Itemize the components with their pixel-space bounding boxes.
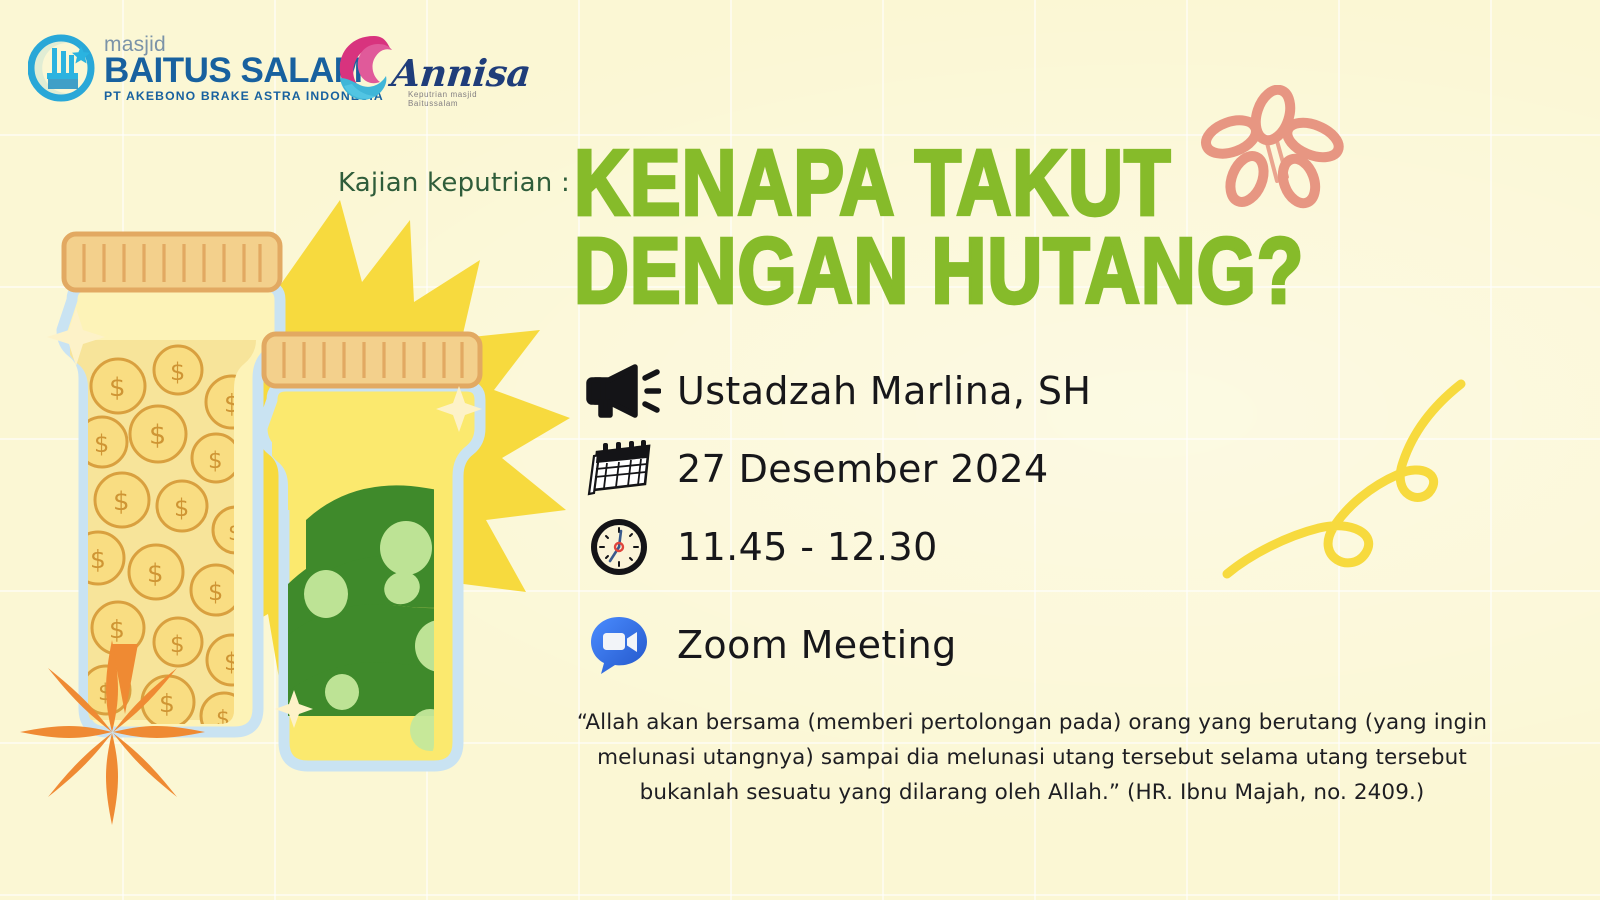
detail-row-speaker: Ustadzah Marlina, SH xyxy=(585,352,1145,430)
mosque-crescent-icon xyxy=(28,33,98,103)
zoom-video-icon xyxy=(585,614,661,676)
svg-text:$: $ xyxy=(94,430,109,458)
hadith-quote: “Allah akan bersama (memberi pertolongan… xyxy=(562,706,1502,810)
svg-text:$: $ xyxy=(170,632,185,658)
title-line-1: KENAPA TAKUT xyxy=(574,140,1304,228)
svg-text:$: $ xyxy=(149,420,166,451)
svg-text:$: $ xyxy=(113,487,130,517)
detail-speaker-label: Ustadzah Marlina, SH xyxy=(677,369,1091,413)
poster-canvas: $ $ $ $ $ $ $ $ $ $ $ $ $ $ $ xyxy=(0,0,1600,900)
logo-annisa: Annisa Keputrian masjid Baitussalam xyxy=(332,30,517,108)
detail-row-time: 11.45 - 12.30 xyxy=(585,508,1145,586)
svg-text:$: $ xyxy=(208,448,223,474)
hijab-woman-icon xyxy=(340,36,392,100)
svg-text:$: $ xyxy=(159,689,175,718)
svg-text:$: $ xyxy=(170,358,185,386)
detail-date-label: 27 Desember 2024 xyxy=(677,447,1049,491)
clock-icon xyxy=(585,516,661,578)
title-line-2: DENGAN HUTANG? xyxy=(574,228,1304,316)
logo-bar: masjid BAITUS SALAM PT AKEBONO BRAKE AST… xyxy=(0,0,1600,130)
jar-of-gold-coins: $ $ $ $ $ $ $ $ $ $ $ $ $ $ $ xyxy=(62,234,280,739)
logo-annisa-subtitle: Keputrian masjid Baitussalam xyxy=(408,90,517,108)
yellow-loop-squiggle xyxy=(1215,378,1475,593)
megaphone-icon xyxy=(585,360,661,422)
two-money-jars-illustration: $ $ $ $ $ $ $ $ $ $ $ $ $ $ $ xyxy=(10,190,580,800)
svg-text:$: $ xyxy=(90,545,106,574)
logo-annisa-word: Annisa xyxy=(390,51,533,95)
detail-row-date: 27 Desember 2024 xyxy=(585,430,1145,508)
svg-text:$: $ xyxy=(208,578,223,606)
svg-text:$: $ xyxy=(109,615,125,644)
calendar-icon xyxy=(585,438,661,500)
jar-lid-right xyxy=(264,334,480,386)
svg-text:$: $ xyxy=(174,494,189,522)
svg-text:$: $ xyxy=(98,680,113,706)
eyebrow-label: Kajian keputrian : xyxy=(338,168,570,198)
svg-text:$: $ xyxy=(109,373,126,403)
detail-row-platform: Zoom Meeting xyxy=(585,606,1145,684)
page-title: KENAPA TAKUT DENGAN HUTANG? xyxy=(574,140,1304,316)
detail-platform-label: Zoom Meeting xyxy=(677,623,957,667)
logo-baitus-salam: masjid BAITUS SALAM PT AKEBONO BRAKE AST… xyxy=(28,33,384,103)
detail-time-label: 11.45 - 12.30 xyxy=(677,525,938,569)
jar-lid-left xyxy=(64,234,280,290)
event-details-list: Ustadzah Marlina, SH xyxy=(585,352,1145,684)
svg-text:$: $ xyxy=(147,559,164,589)
